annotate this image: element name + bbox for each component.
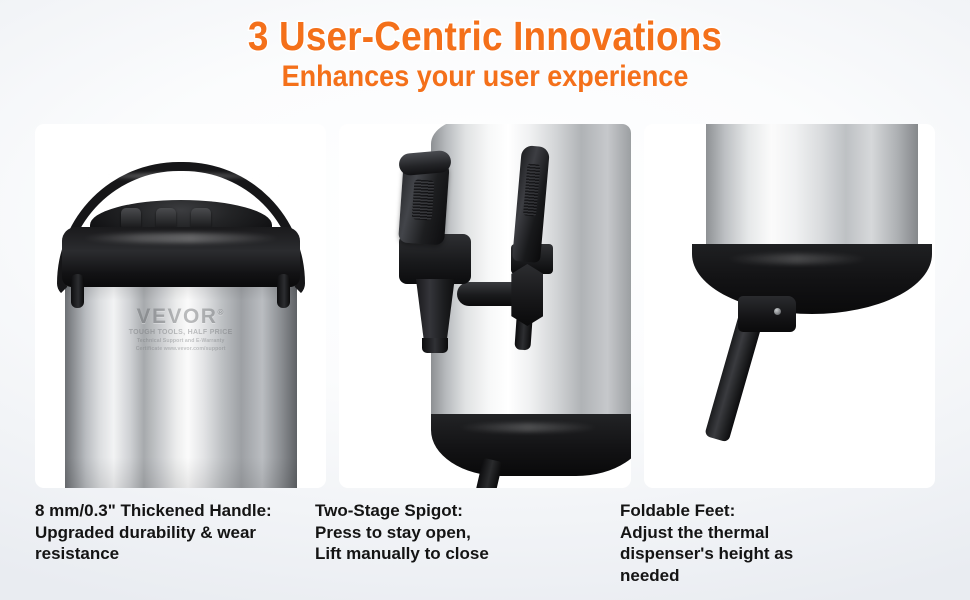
captions: 8 mm/0.3" Thickened Handle: Upgraded dur… (0, 500, 970, 600)
header: 3 User-Centric Innovations Enhances your… (0, 0, 970, 94)
panel-two-stage-spigot (339, 124, 630, 488)
panel-thickened-handle: VEVOR® TOUGH TOOLS, HALF PRICE Technical… (35, 124, 326, 488)
handle-peg-left-icon (71, 274, 84, 308)
spigot-nut-icon (511, 264, 543, 326)
page-title: 3 User-Centric Innovations (49, 14, 922, 58)
marketing-banner: 3 User-Centric Innovations Enhances your… (0, 0, 970, 600)
panel-foldable-feet (644, 124, 935, 488)
leg-hinge-icon (738, 296, 796, 332)
black-base-dome (692, 244, 932, 314)
caption-foldable-feet: Foldable Feet: Adjust the thermal dispen… (620, 500, 935, 600)
page-subtitle: Enhances your user experience (49, 60, 922, 94)
stainless-body (706, 124, 918, 260)
caption-thickened-handle: 8 mm/0.3" Thickened Handle: Upgraded dur… (0, 500, 315, 600)
stainless-body (65, 264, 297, 488)
feature-panels: VEVOR® TOUGH TOOLS, HALF PRICE Technical… (35, 124, 935, 488)
handle-peg-right-icon (277, 274, 290, 308)
caption-two-stage-spigot: Two-Stage Spigot: Press to stay open, Li… (315, 500, 620, 600)
hinge-bolt-icon (774, 308, 781, 315)
foldable-leg-icon (704, 313, 763, 443)
black-base-ring (431, 414, 630, 476)
black-lid-icon (62, 227, 300, 287)
spigot-outlet-icon (422, 338, 448, 353)
